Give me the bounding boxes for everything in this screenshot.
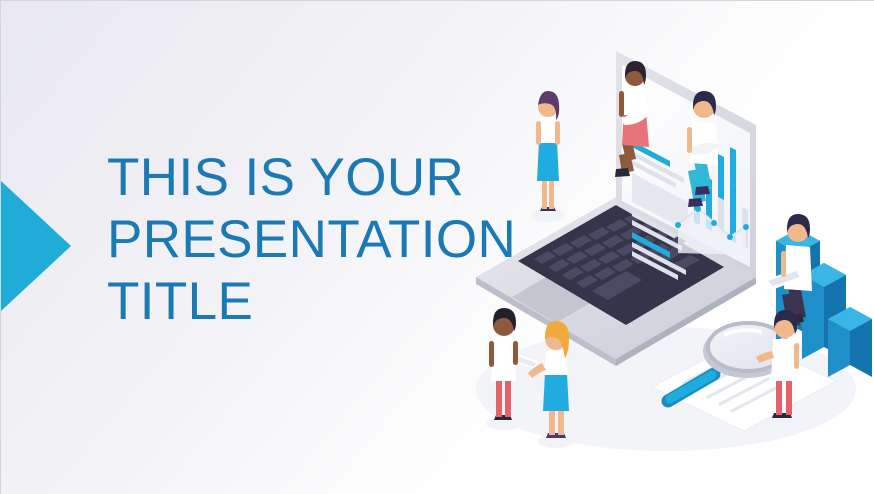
triangle-arrow-decoration bbox=[1, 181, 71, 311]
person-standing-woman bbox=[531, 91, 565, 222]
illustration-isometric-analytics bbox=[456, 29, 874, 479]
presentation-slide: THIS IS YOUR PRESENTATION TITLE bbox=[0, 0, 874, 494]
